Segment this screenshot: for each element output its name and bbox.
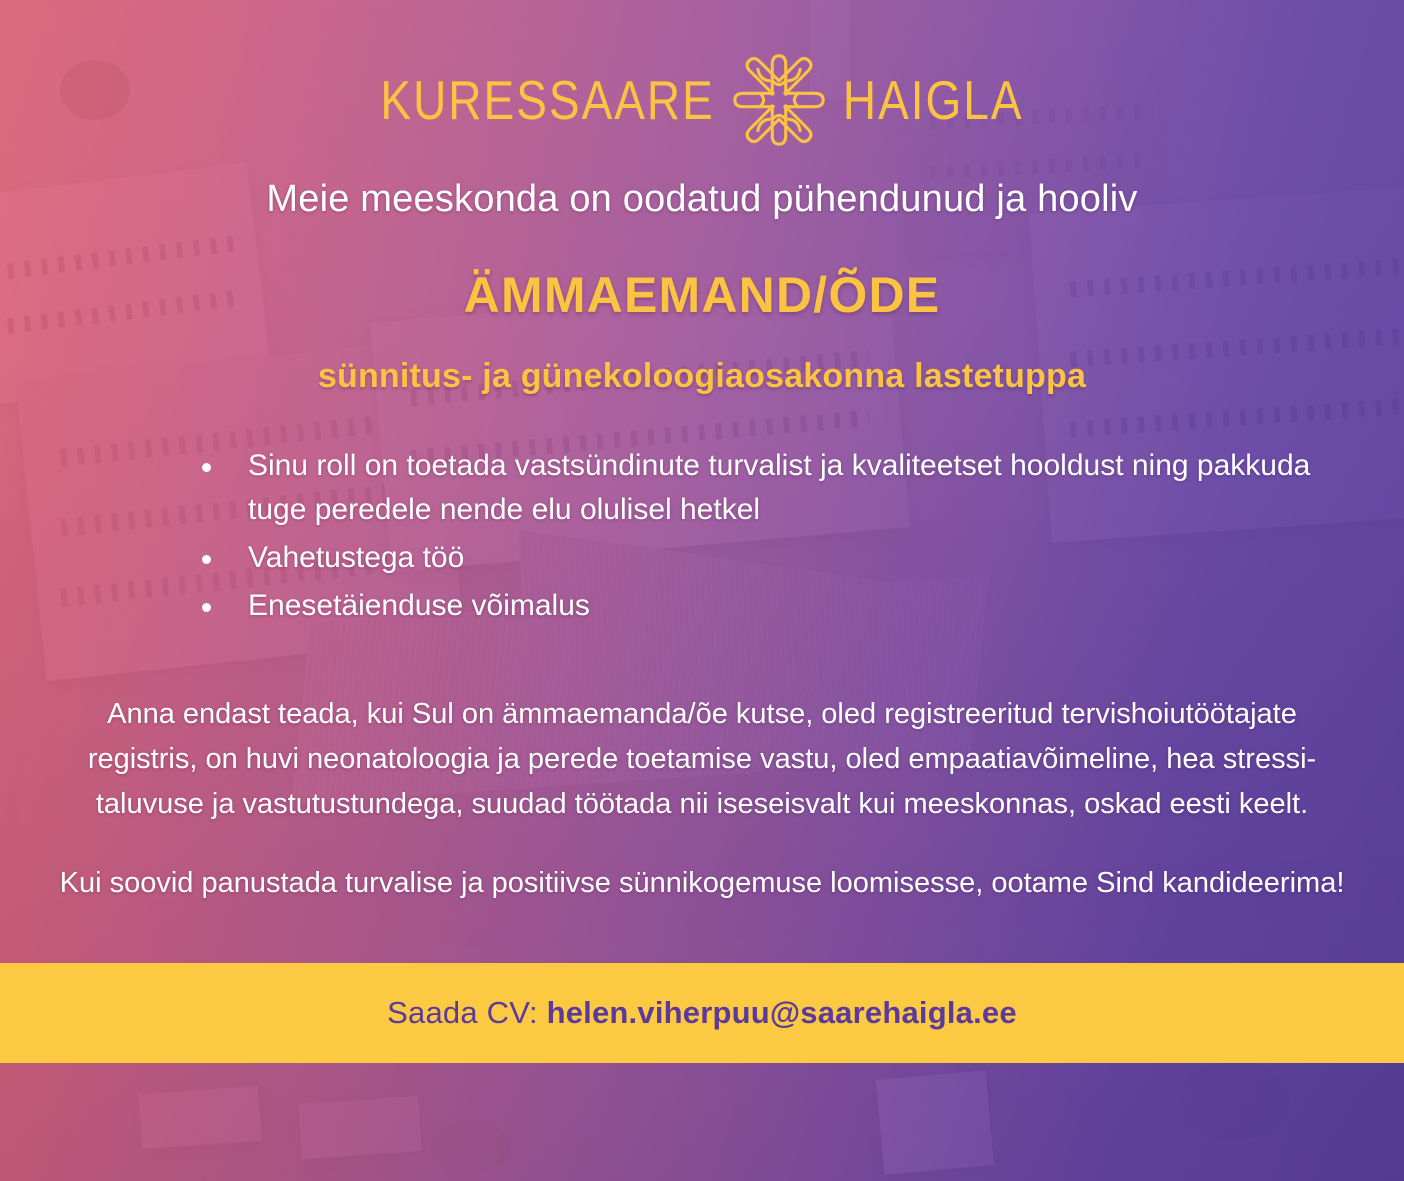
page-subtitle: sünnitus- ja günekoloogiaosakonna lastet…: [0, 357, 1404, 396]
contact-line: Saada CV: helen.viherpuu@saarehaigla.ee: [387, 995, 1017, 1031]
list-item: Vahetustega töö: [198, 536, 1318, 580]
send-cv-label: Saada CV:: [387, 995, 538, 1030]
closing-paragraph: Kui soovid panustada turvalise ja positi…: [30, 862, 1374, 906]
responsibilities-list: Sinu roll on toetada vastsündinute turva…: [198, 444, 1318, 632]
bullet-dot-icon: [202, 603, 211, 612]
requirements-paragraph: Anna endast teada, kui Sul on ämmaemanda…: [62, 692, 1342, 828]
contact-email-link[interactable]: helen.viherpuu@saarehaigla.ee: [547, 995, 1017, 1030]
bullet-dot-icon: [202, 463, 211, 472]
lead-line: Meie meeskonda on oodatud pühendunud ja …: [0, 178, 1404, 221]
contact-footer-bar: Saada CV: helen.viherpuu@saarehaigla.ee: [0, 963, 1404, 1063]
list-item: Enesetäienduse võimalus: [198, 584, 1318, 628]
brand-name-left: KURESSAARE: [380, 73, 714, 127]
bullet-dot-icon: [202, 555, 211, 564]
list-item-text: Vahetustega töö: [248, 541, 464, 574]
brand-logo: KURESSAARE: [0, 52, 1404, 148]
list-item-text: Sinu roll on toetada vastsündinute turva…: [248, 449, 1310, 526]
list-item-text: Enesetäienduse võimalus: [248, 589, 590, 622]
list-item: Sinu roll on toetada vastsündinute turva…: [198, 444, 1318, 532]
page-title: ÄMMAEMAND/ÕDE: [0, 266, 1404, 324]
job-advert-poster: KURESSAARE: [0, 0, 1404, 1181]
brand-name-right: HAIGLA: [843, 73, 1024, 127]
eight-pointed-star-emblem: [731, 52, 827, 148]
